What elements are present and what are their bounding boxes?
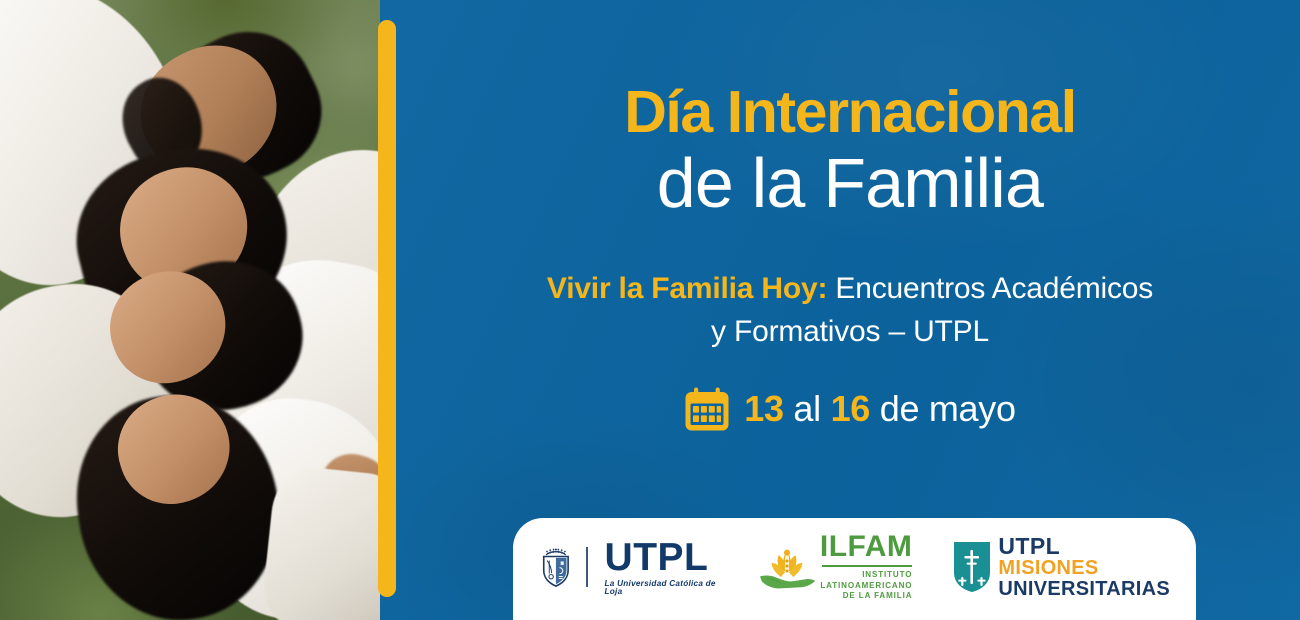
utpl-tagline: La Universidad Católica de Loja [605, 580, 716, 596]
utpl-name: UTPL [605, 538, 716, 577]
event-date-text: 13 al 16 de mayo [744, 388, 1015, 430]
subtitle-highlight: Vivir la Familia Hoy: [547, 272, 827, 305]
misiones-line2: MISIONES [998, 558, 1170, 578]
ilfam-sub-line1: INSTITUTO [820, 570, 913, 581]
ilfam-rule [822, 565, 913, 567]
ilfam-subtitle: INSTITUTO LATINOAMERICANO DE LA FAMILIA [820, 570, 913, 602]
ilfam-name: ILFAM [820, 532, 913, 562]
ilfam-flower-icon [758, 543, 816, 591]
event-date-row: 13 al 16 de mayo [684, 387, 1015, 431]
event-banner: Día Internacional de la Familia Vivir la… [0, 0, 1300, 620]
logo-utpl: UTPL La Universidad Católica de Loja [539, 538, 716, 596]
misiones-wordmark: UTPL MISIONES UNIVERSITARIAS [998, 535, 1170, 599]
date-suffix: de mayo [870, 388, 1016, 429]
photo-scene [0, 0, 380, 620]
cross-shield-icon [954, 542, 990, 592]
banner-content: Día Internacional de la Familia Vivir la… [400, 0, 1300, 520]
page-title-line2: de la Familia [624, 145, 1076, 222]
misiones-line1: UTPL [998, 535, 1170, 558]
event-subtitle: Vivir la Familia Hoy: Encuentros Académi… [540, 268, 1160, 353]
date-day-end: 16 [831, 388, 870, 429]
date-connector: al [784, 388, 831, 429]
logo-misiones-universitarias: UTPL MISIONES UNIVERSITARIAS [954, 535, 1170, 599]
page-title-line1: Día Internacional [624, 82, 1076, 142]
utpl-divider [586, 547, 588, 587]
calendar-icon [684, 387, 730, 431]
family-photo [0, 0, 380, 620]
utpl-crest-icon [539, 543, 573, 591]
ilfam-wordmark: ILFAM INSTITUTO LATINOAMERICANO DE LA FA… [820, 532, 913, 602]
yellow-accent-bar [378, 20, 396, 597]
title-block: Día Internacional de la Familia [624, 82, 1076, 222]
misiones-line3: UNIVERSITARIAS [998, 579, 1170, 599]
date-day-start: 13 [744, 388, 783, 429]
logo-panel: UTPL La Universidad Católica de Loja [513, 518, 1196, 620]
logo-ilfam: ILFAM INSTITUTO LATINOAMERICANO DE LA FA… [758, 532, 913, 602]
utpl-wordmark: UTPL La Universidad Católica de Loja [605, 538, 716, 596]
ilfam-sub-line3: DE LA FAMILIA [820, 591, 913, 602]
ilfam-sub-line2: LATINOAMERICANO [820, 581, 913, 592]
